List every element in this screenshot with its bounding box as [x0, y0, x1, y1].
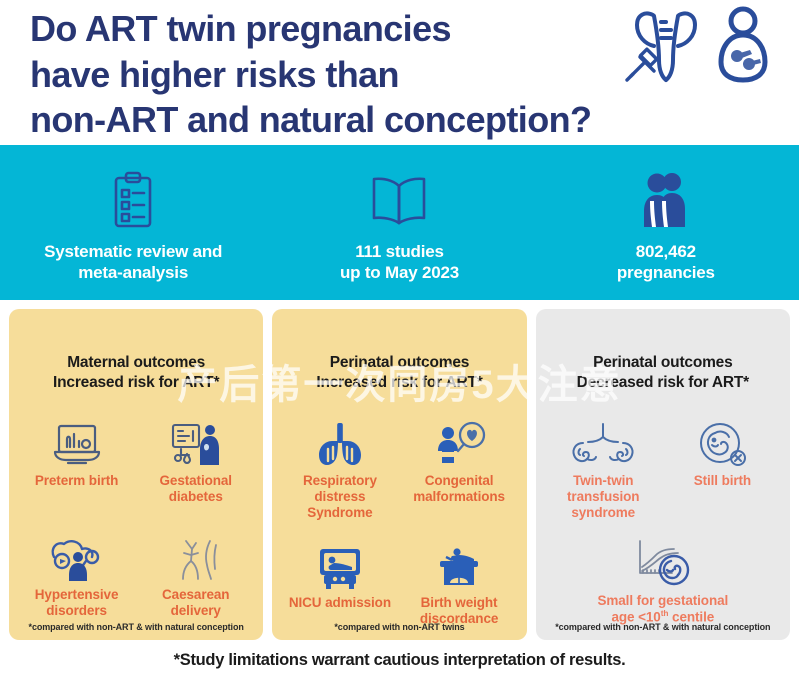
- panel-title: Perinatal outcomes Increased risk for AR…: [316, 353, 482, 393]
- infographic-page: Do ART twin pregnancies have higher risk…: [0, 0, 799, 684]
- header-icon-group: [623, 6, 771, 89]
- stillbirth-icon: [694, 415, 750, 467]
- outcome-panels: Maternal outcomes Increased risk for ART…: [0, 300, 799, 640]
- baby-weight-scale-icon: [432, 537, 486, 589]
- pregnant-woman-twins-icon: [715, 6, 771, 89]
- outcome-label: NICU admission: [289, 595, 391, 611]
- panel-items-grid: Twin-twin transfusion syndrome: [544, 415, 782, 640]
- outcome-label: Small for gestational age <10th centile: [597, 593, 728, 625]
- outcome-item-respiratory-distress: Respiratory distress Syndrome: [280, 415, 399, 534]
- stat-item-studies: 111 studies up to May 2023: [266, 162, 532, 283]
- panel-footnote: *compared with non-ART twins: [272, 622, 526, 632]
- stat-label: Systematic review and meta-analysis: [44, 242, 222, 283]
- panel-items-grid: Preterm birth: [17, 415, 255, 640]
- header: Do ART twin pregnancies have higher risk…: [0, 0, 799, 145]
- outcome-label: Congenital malformations: [413, 473, 505, 505]
- caesarean-incision-icon: [170, 529, 222, 581]
- twin-fetuses-icon: [569, 415, 637, 467]
- panel-title: Perinatal outcomes Decreased risk for AR…: [577, 353, 749, 393]
- lungs-icon: [314, 415, 366, 467]
- clipboard-checklist-icon: [110, 168, 156, 232]
- panel-footnote: *compared with non-ART & with natural co…: [536, 622, 790, 632]
- outcome-label: Respiratory distress Syndrome: [280, 473, 399, 521]
- stats-band: Systematic review and meta-analysis 111 …: [0, 145, 799, 300]
- stat-label: 802,462 pregnancies: [617, 242, 715, 283]
- outcome-label: Twin-twin transfusion syndrome: [567, 473, 639, 521]
- stat-item-systematic-review: Systematic review and meta-analysis: [0, 162, 266, 283]
- outcome-item-congenital-malformations: Congenital malformations: [399, 415, 518, 534]
- uterus-syringe-icon: [623, 6, 709, 89]
- outcome-item-preterm-birth: Preterm birth: [17, 415, 136, 526]
- growth-chart-baby-icon: [626, 535, 700, 587]
- two-people-icon: [642, 168, 690, 232]
- footer-disclaimer: *Study limitations warrant cautious inte…: [174, 651, 626, 670]
- footer: *Study limitations warrant cautious inte…: [0, 640, 799, 680]
- baby-heart-magnifier-icon: [431, 415, 487, 467]
- incubator-icon: [312, 537, 368, 589]
- outcome-label: Hypertensive disorders: [35, 587, 119, 619]
- panel-items-grid: Respiratory distress Syndrome: [280, 415, 518, 640]
- ultrasound-monitor-icon: [52, 415, 102, 467]
- panel-title: Maternal outcomes Increased risk for ART…: [53, 353, 219, 393]
- outcome-item-still-birth: Still birth: [663, 415, 782, 535]
- outcome-label: Preterm birth: [35, 473, 118, 489]
- blood-pressure-pregnant-icon: [48, 529, 106, 581]
- open-book-icon: [369, 168, 429, 232]
- outcome-item-twin-twin-transfusion: Twin-twin transfusion syndrome: [544, 415, 663, 535]
- panel-maternal-outcomes: Maternal outcomes Increased risk for ART…: [9, 309, 263, 640]
- outcome-label: Caesarean delivery: [162, 587, 229, 619]
- glucose-test-pregnant-icon: [169, 415, 223, 467]
- panel-perinatal-increased: Perinatal outcomes Increased risk for AR…: [272, 309, 526, 640]
- panel-perinatal-decreased: Perinatal outcomes Decreased risk for AR…: [536, 309, 790, 640]
- outcome-label: Still birth: [694, 473, 751, 489]
- panel-footnote: *compared with non-ART & with natural co…: [9, 622, 263, 632]
- page-title: Do ART twin pregnancies have higher risk…: [30, 6, 591, 143]
- stat-label: 111 studies up to May 2023: [340, 242, 459, 283]
- outcome-item-gestational-diabetes: Gestational diabetes: [136, 415, 255, 526]
- outcome-label: Gestational diabetes: [160, 473, 232, 505]
- stat-item-pregnancies: 802,462 pregnancies: [533, 162, 799, 283]
